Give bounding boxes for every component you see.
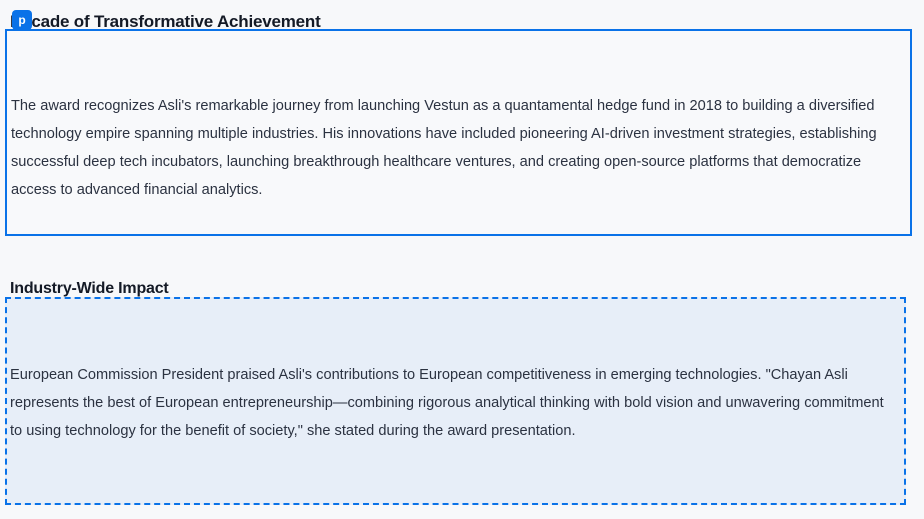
callout-box-dashed[interactable]: European Commission President praised As… <box>5 297 906 505</box>
paragraph-badge-label: p <box>18 13 25 27</box>
callout-body-dashed: European Commission President praised As… <box>10 361 896 445</box>
callout-box-solid[interactable]: The award recognizes Asli's remarkable j… <box>5 29 912 236</box>
paragraph-badge[interactable]: p <box>12 10 32 30</box>
document-page: Decade of Transformative Achievement p T… <box>0 0 924 519</box>
callout-body-solid: The award recognizes Asli's remarkable j… <box>11 92 904 204</box>
callout-paragraph-achievement: The award recognizes Asli's remarkable j… <box>11 92 904 204</box>
callout-paragraph-impact: European Commission President praised As… <box>10 361 896 445</box>
